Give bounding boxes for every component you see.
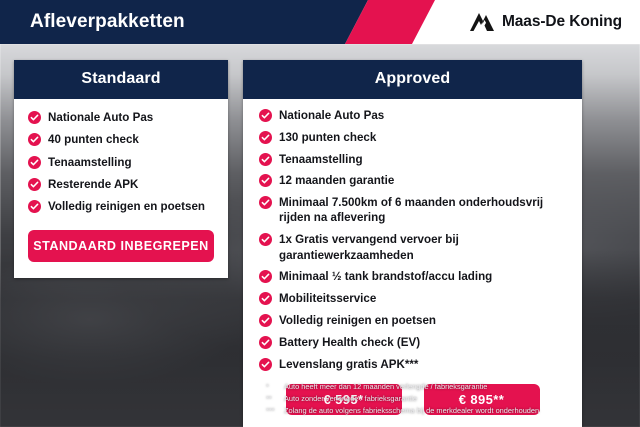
brand-name: Maas-De Koning [502, 13, 622, 31]
check-circle-icon [259, 131, 272, 144]
brand-logo: Maas-De Koning [469, 0, 622, 44]
footnote-marker: *** [266, 405, 284, 417]
list-item-label: Battery Health check (EV) [279, 335, 420, 350]
list-item-label: Volledig reinigen en poetsen [48, 199, 205, 214]
list-item: Minimaal 7.500km of 6 maanden onderhouds… [259, 195, 566, 226]
page-header: Afleverpakketten Maas-De Koning [0, 0, 640, 44]
check-circle-icon [259, 270, 272, 283]
list-item-label: Mobiliteitsservice [279, 291, 376, 306]
list-item: 1x Gratis vervangend vervoer bij garanti… [259, 232, 566, 263]
check-circle-icon [259, 336, 272, 349]
card-approved: Approved Nationale Auto Pas 130 punten c… [243, 60, 582, 427]
card-standaard-body: Nationale Auto Pas 40 punten check Tenaa… [14, 99, 228, 278]
check-circle-icon [259, 153, 272, 166]
card-standaard-title: Standaard [14, 60, 228, 99]
list-item: Minimaal ½ tank brandstof/accu lading [259, 269, 566, 284]
list-item: Nationale Auto Pas [259, 108, 566, 123]
list-item: 130 punten check [259, 130, 566, 145]
check-circle-icon [28, 178, 41, 191]
list-item: Levenslang gratis APK*** [259, 357, 566, 372]
footnote-item: *** Zolang de auto volgens fabrieksschem… [266, 405, 626, 417]
check-circle-icon [259, 358, 272, 371]
page-root: Afleverpakketten Maas-De Koning Standaar… [0, 0, 640, 427]
check-circle-icon [28, 111, 41, 124]
list-item-label: Volledig reinigen en poetsen [279, 313, 436, 328]
page-title: Afleverpakketten [30, 0, 185, 44]
footnote-marker: * [266, 381, 284, 393]
list-item: 12 maanden garantie [259, 173, 566, 188]
list-item-label: Tenaamstelling [48, 155, 132, 170]
feature-list-approved: Nationale Auto Pas 130 punten check Tena… [259, 108, 566, 372]
footnote-marker: ** [266, 393, 284, 405]
footnote-text: Zolang de auto volgens fabrieksschema bi… [284, 405, 539, 417]
check-circle-icon [259, 109, 272, 122]
footnote-text: Auto heeft meer dan 12 maanden verlengde… [284, 381, 487, 393]
list-item-label: 130 punten check [279, 130, 376, 145]
list-item: Tenaamstelling [259, 152, 566, 167]
check-circle-icon [259, 314, 272, 327]
list-item: Volledig reinigen en poetsen [259, 313, 566, 328]
footnote-item: * Auto heeft meer dan 12 maanden verleng… [266, 381, 626, 393]
check-circle-icon [259, 233, 272, 246]
list-item-label: 1x Gratis vervangend vervoer bij garanti… [279, 232, 566, 263]
standaard-inbegrepen-button[interactable]: STANDAARD INBEGREPEN [28, 230, 214, 262]
check-circle-icon [28, 200, 41, 213]
list-item: 40 punten check [28, 132, 214, 147]
card-standaard: Standaard Nationale Auto Pas 40 punten c… [14, 60, 228, 278]
list-item-label: 12 maanden garantie [279, 173, 394, 188]
list-item-label: Resterende APK [48, 177, 138, 192]
list-item-label: Minimaal 7.500km of 6 maanden onderhouds… [279, 195, 566, 226]
check-circle-icon [259, 196, 272, 209]
list-item: Tenaamstelling [28, 155, 214, 170]
list-item-label: 40 punten check [48, 132, 139, 147]
list-item: Nationale Auto Pas [28, 110, 214, 125]
check-circle-icon [28, 156, 41, 169]
check-circle-icon [28, 133, 41, 146]
list-item: Battery Health check (EV) [259, 335, 566, 350]
list-item: Resterende APK [28, 177, 214, 192]
feature-list-standaard: Nationale Auto Pas 40 punten check Tenaa… [28, 110, 214, 214]
card-approved-title: Approved [243, 60, 582, 99]
maas-de-koning-m-logo-icon [469, 12, 495, 32]
list-item-label: Nationale Auto Pas [279, 108, 384, 123]
list-item-label: Minimaal ½ tank brandstof/accu lading [279, 269, 492, 284]
footnote-item: ** Auto zonder verlengde / fabrieksgaran… [266, 393, 626, 405]
card-approved-body: Nationale Auto Pas 130 punten check Tena… [243, 99, 582, 427]
footnote-list: * Auto heeft meer dan 12 maanden verleng… [266, 381, 626, 417]
footnote-text: Auto zonder verlengde / fabrieksgarantie [284, 393, 417, 405]
list-item: Volledig reinigen en poetsen [28, 199, 214, 214]
list-item: Mobiliteitsservice [259, 291, 566, 306]
check-circle-icon [259, 292, 272, 305]
list-item-label: Tenaamstelling [279, 152, 363, 167]
list-item-label: Nationale Auto Pas [48, 110, 153, 125]
list-item-label: Levenslang gratis APK*** [279, 357, 418, 372]
check-circle-icon [259, 174, 272, 187]
